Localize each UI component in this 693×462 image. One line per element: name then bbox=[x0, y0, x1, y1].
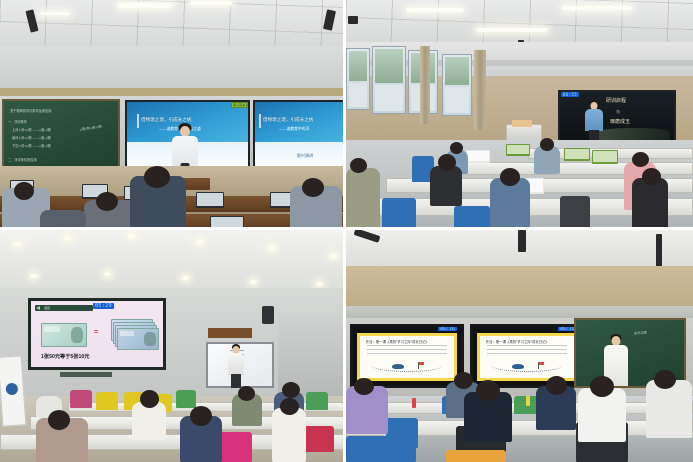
laptop bbox=[506, 144, 530, 156]
participant-head bbox=[238, 386, 255, 401]
audience-head bbox=[96, 192, 118, 211]
slide-flag-icon bbox=[418, 362, 419, 369]
audience-head bbox=[476, 380, 500, 401]
photo-training-room-led-screen: 返回 05:29 = 1张50元等于5张 bbox=[0, 230, 343, 462]
ceiling-light bbox=[406, 8, 464, 12]
participant-head bbox=[280, 398, 299, 415]
water-bottle bbox=[526, 396, 530, 406]
audience-head bbox=[632, 152, 649, 167]
photo-classroom-dual-slides-chalkboard: 作业：第一课《角的“学习之际”成长日记》 06:16 作业：第一课《角的“学习之… bbox=[346, 230, 693, 462]
audience-member bbox=[646, 380, 692, 438]
ceiling-light bbox=[40, 12, 70, 15]
audience-head bbox=[654, 370, 676, 389]
slide-title: 作业：第一课《角的“学习之际”成长日记》 bbox=[366, 339, 449, 344]
slide-path-graphic bbox=[491, 365, 562, 372]
audience-member bbox=[430, 166, 462, 206]
slide-caption: 1张50元等于5张10元 bbox=[41, 353, 89, 360]
chair bbox=[306, 392, 328, 410]
wall-trim bbox=[0, 88, 343, 96]
chair bbox=[560, 196, 590, 227]
participant bbox=[272, 408, 306, 462]
whiteboard-writer-figure bbox=[228, 344, 244, 388]
audience-head bbox=[144, 166, 170, 188]
photo-collage: 关于物体的浮沉条件及其应用 一、浮沉条件 上浮 F浮>G物 —— ρ液>ρ物 悬… bbox=[0, 0, 693, 462]
monitor bbox=[196, 192, 224, 208]
slide-cloud-icon bbox=[392, 364, 404, 369]
projection-screen-right: 借物理之理，引成长之帆 ——谈教育中的浮 即兴演讲 bbox=[253, 100, 343, 172]
slide-body-text bbox=[487, 345, 568, 357]
ceiling-light bbox=[118, 3, 172, 8]
laptop bbox=[564, 148, 590, 161]
back-arrow-icon[interactable] bbox=[36, 306, 40, 310]
audience-head bbox=[354, 378, 374, 395]
audience-head bbox=[540, 138, 554, 151]
slide-flag-icon bbox=[538, 362, 539, 369]
audience-head bbox=[438, 154, 456, 171]
photo-classroom-windows-male-presenter: 06:55 研训启程 与 琢磨成玉 bbox=[346, 0, 693, 227]
participant-head bbox=[282, 382, 300, 398]
chair bbox=[454, 206, 490, 227]
collage-panel-bottom-left: 返回 05:29 = 1张50元等于5张 bbox=[0, 230, 346, 462]
slide-title: 作业：第一课《角的“学习之际”成长日记》 bbox=[486, 339, 569, 344]
audience-member bbox=[632, 178, 668, 227]
projector-mount bbox=[656, 234, 662, 268]
slide-timer: 05:29 bbox=[93, 303, 114, 309]
audience-head bbox=[642, 168, 661, 185]
upper-wall bbox=[346, 266, 693, 310]
slide-path-graphic bbox=[371, 365, 442, 372]
collage-panel-top-right: 06:55 研训启程 与 琢磨成玉 bbox=[346, 0, 693, 230]
projection-screen-right: 作业：第一课《角的“学习之际”成长日记》 06:16 bbox=[470, 324, 584, 388]
blackboard: 关于物体的浮沉条件及其应用 一、浮沉条件 上浮 F浮>G物 —— ρ液>ρ物 悬… bbox=[2, 99, 120, 169]
monitor bbox=[210, 216, 244, 227]
curtain bbox=[420, 46, 430, 124]
slide-cloud-icon bbox=[512, 364, 524, 369]
audience-member bbox=[40, 210, 86, 227]
projection-screen: 06:55 研训启程 与 琢磨成玉 bbox=[558, 90, 676, 142]
audience-head bbox=[500, 168, 520, 186]
chair bbox=[70, 390, 92, 408]
slide-nav-label: 返回 bbox=[44, 306, 50, 310]
participant-head bbox=[140, 390, 159, 408]
upper-wall bbox=[0, 46, 343, 94]
podium-top bbox=[512, 120, 532, 127]
participant-head bbox=[48, 410, 70, 430]
audience-head bbox=[546, 376, 567, 395]
projector-mount bbox=[348, 16, 358, 24]
audience-head bbox=[450, 142, 463, 154]
chair bbox=[176, 390, 196, 408]
slide-body-text bbox=[367, 345, 448, 357]
chair bbox=[382, 198, 416, 227]
banknote-10 bbox=[117, 328, 159, 350]
ceiling bbox=[0, 230, 343, 292]
screen-mount bbox=[60, 372, 112, 377]
window bbox=[346, 48, 370, 110]
curtain bbox=[474, 50, 486, 130]
photo-lecture-hall-female-presenter: 关于物体的浮沉条件及其应用 一、浮沉条件 上浮 F浮>G物 —— ρ液>ρ物 悬… bbox=[0, 0, 343, 227]
collage-panel-top-left: 关于物体的浮沉条件及其应用 一、浮沉条件 上浮 F浮>G物 —— ρ液>ρ物 悬… bbox=[0, 0, 346, 230]
slide: 作业：第一课《角的“学习之际”成长日记》 bbox=[477, 333, 577, 381]
door-header bbox=[208, 328, 252, 338]
ceiling-light bbox=[562, 6, 632, 10]
ceiling-light bbox=[476, 28, 548, 32]
audience-head bbox=[590, 376, 614, 397]
window bbox=[372, 46, 406, 114]
window bbox=[442, 54, 472, 116]
slide: 作业：第一课《角的“学习之际”成长日记》 bbox=[357, 333, 457, 381]
chair bbox=[346, 436, 416, 462]
chair bbox=[96, 392, 118, 410]
audience-head bbox=[14, 182, 34, 200]
audience-head bbox=[302, 178, 324, 197]
audience-head bbox=[350, 158, 367, 173]
chair bbox=[218, 432, 252, 462]
collage-panel-bottom-right: 作业：第一课《角的“学习之际”成长日记》 06:16 作业：第一课《角的“学习之… bbox=[346, 230, 693, 462]
participant-head bbox=[190, 406, 212, 426]
ceiling bbox=[346, 0, 693, 44]
slide-timer: 06:16 bbox=[438, 326, 457, 331]
chair bbox=[446, 450, 506, 462]
equals-sign: = bbox=[94, 329, 98, 336]
audience-member bbox=[346, 168, 380, 227]
audience-head bbox=[454, 372, 473, 389]
laptop bbox=[466, 150, 490, 163]
ceiling-light bbox=[190, 1, 232, 5]
water-bottle bbox=[412, 398, 416, 408]
chalkboard-note: 成长之路 bbox=[634, 329, 647, 335]
led-presentation-screen: 返回 05:29 = 1张50元等于5张 bbox=[28, 298, 166, 370]
presenter-figure bbox=[585, 100, 603, 144]
projector-mount bbox=[518, 230, 526, 252]
banknote-50 bbox=[41, 323, 87, 347]
wall-speaker bbox=[262, 306, 274, 324]
laptop bbox=[592, 150, 618, 164]
